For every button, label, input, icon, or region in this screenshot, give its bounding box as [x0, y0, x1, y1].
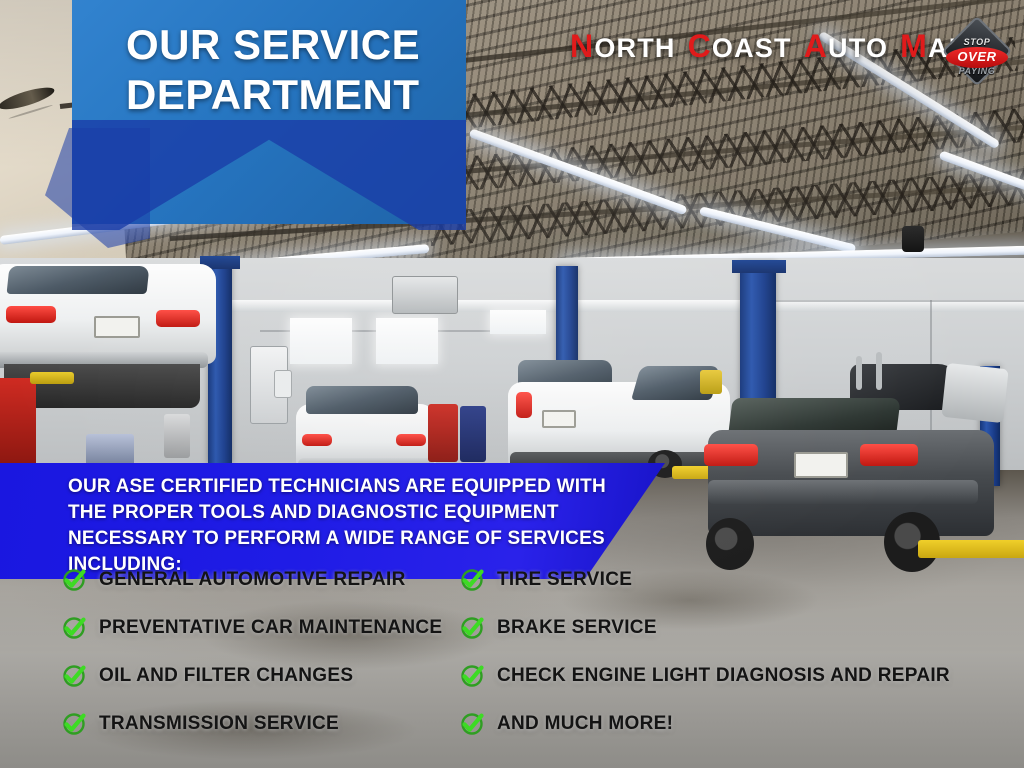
brand-word-cap: M	[900, 28, 928, 65]
vehicle-rear-window	[7, 266, 150, 294]
ceiling-speaker	[902, 226, 924, 252]
vehicle-lift-crossbar	[732, 260, 786, 273]
badge-line-stop: STOP	[946, 37, 1008, 47]
check-circle-icon	[460, 664, 484, 688]
vehicle-bumper	[708, 480, 978, 504]
brand-word-cap: A	[804, 28, 828, 65]
service-list-item[interactable]: CHECK ENGINE LIGHT DIAGNOSIS AND REPAIR	[460, 652, 950, 700]
wall-control-box	[274, 370, 292, 398]
brand-logo[interactable]: NORTH COAST AUTO MALL	[570, 28, 994, 65]
check-circle-icon	[460, 568, 484, 592]
yellow-jack-stand	[30, 372, 74, 384]
service-list-item[interactable]: AND MUCH MORE!	[460, 700, 950, 748]
check-circle-icon	[460, 616, 484, 640]
brand-word-cap: N	[570, 28, 594, 65]
service-label: CHECK ENGINE LIGHT DIAGNOSIS AND REPAIR	[497, 665, 950, 687]
service-label: TIRE SERVICE	[497, 569, 632, 591]
service-list-item[interactable]: OIL AND FILTER CHANGES	[62, 652, 442, 700]
vehicle-license-plate	[794, 452, 848, 478]
brand-word: AUTO	[804, 28, 888, 65]
check-circle-icon	[460, 712, 484, 736]
red-tool-chest	[0, 378, 36, 466]
wall-light-panel	[290, 318, 352, 364]
red-tool-chest	[428, 404, 458, 462]
wall-light-panel	[490, 310, 546, 334]
service-list-item[interactable]: BRAKE SERVICE	[460, 604, 950, 652]
badge-line-over: OVER	[946, 49, 1008, 64]
service-list-item[interactable]: GENERAL AUTOMOTIVE REPAIR	[62, 556, 442, 604]
check-circle-icon	[62, 616, 86, 640]
service-label: AND MUCH MORE!	[497, 713, 673, 735]
red-tool-chest	[460, 406, 486, 462]
brand-word-rest: UTO	[828, 33, 888, 64]
page-title-line-1: OUR SERVICE	[126, 20, 466, 70]
page-title: OUR SERVICE DEPARTMENT	[126, 20, 466, 120]
page-title-line-2: DEPARTMENT	[126, 70, 466, 120]
service-label: GENERAL AUTOMOTIVE REPAIR	[99, 569, 406, 591]
storage-shelf	[856, 356, 862, 390]
check-circle-icon	[62, 568, 86, 592]
service-list-item[interactable]: PREVENTATIVE CAR MAINTENANCE	[62, 604, 442, 652]
vehicle-taillight	[6, 306, 56, 323]
service-list-item[interactable]: TRANSMISSION SERVICE	[62, 700, 442, 748]
vehicle-taillight	[860, 444, 918, 466]
vehicle-license-plate	[94, 316, 140, 338]
vehicle-open-hood	[941, 363, 1008, 423]
service-label: TRANSMISSION SERVICE	[99, 713, 339, 735]
brand-word: NORTH	[570, 28, 676, 65]
stop-over-paying-badge[interactable]: STOP PAYING OVER	[946, 24, 1008, 86]
check-circle-icon	[62, 664, 86, 688]
brand-word-cap: C	[688, 28, 712, 65]
services-column-right: TIRE SERVICE BRAKE SERVICE	[460, 556, 950, 748]
service-department-poster: OUR SERVICE DEPARTMENT NORTH COAST AUTO …	[0, 0, 1024, 768]
shop-cart	[700, 370, 722, 394]
vehicle-license-plate	[542, 410, 576, 428]
wall-light-panel	[376, 318, 438, 364]
vehicle-taillight	[302, 434, 332, 446]
service-label: PREVENTATIVE CAR MAINTENANCE	[99, 617, 442, 639]
vehicle-rear-window	[306, 386, 418, 414]
storage-shelf	[876, 352, 882, 390]
brand-word-rest: ORTH	[594, 33, 675, 64]
service-list-item[interactable]: TIRE SERVICE	[460, 556, 950, 604]
brand-word-rest: OAST	[712, 33, 792, 64]
wall-seam	[760, 300, 1024, 302]
services-checklist: GENERAL AUTOMOTIVE REPAIR PREVENTATIVE C…	[0, 556, 1024, 746]
vehicle-taillight	[156, 310, 200, 327]
vehicle-taillight	[516, 392, 532, 418]
service-label: BRAKE SERVICE	[497, 617, 657, 639]
vehicle-taillight	[704, 444, 758, 466]
shop-cart	[86, 434, 134, 468]
check-circle-icon	[62, 712, 86, 736]
wall-hvac-unit	[392, 276, 458, 314]
oil-drum	[164, 414, 190, 458]
services-column-left: GENERAL AUTOMOTIVE REPAIR PREVENTATIVE C…	[62, 556, 442, 748]
service-label: OIL AND FILTER CHANGES	[99, 665, 353, 687]
brand-word: COAST	[688, 28, 792, 65]
vehicle-taillight	[396, 434, 426, 446]
